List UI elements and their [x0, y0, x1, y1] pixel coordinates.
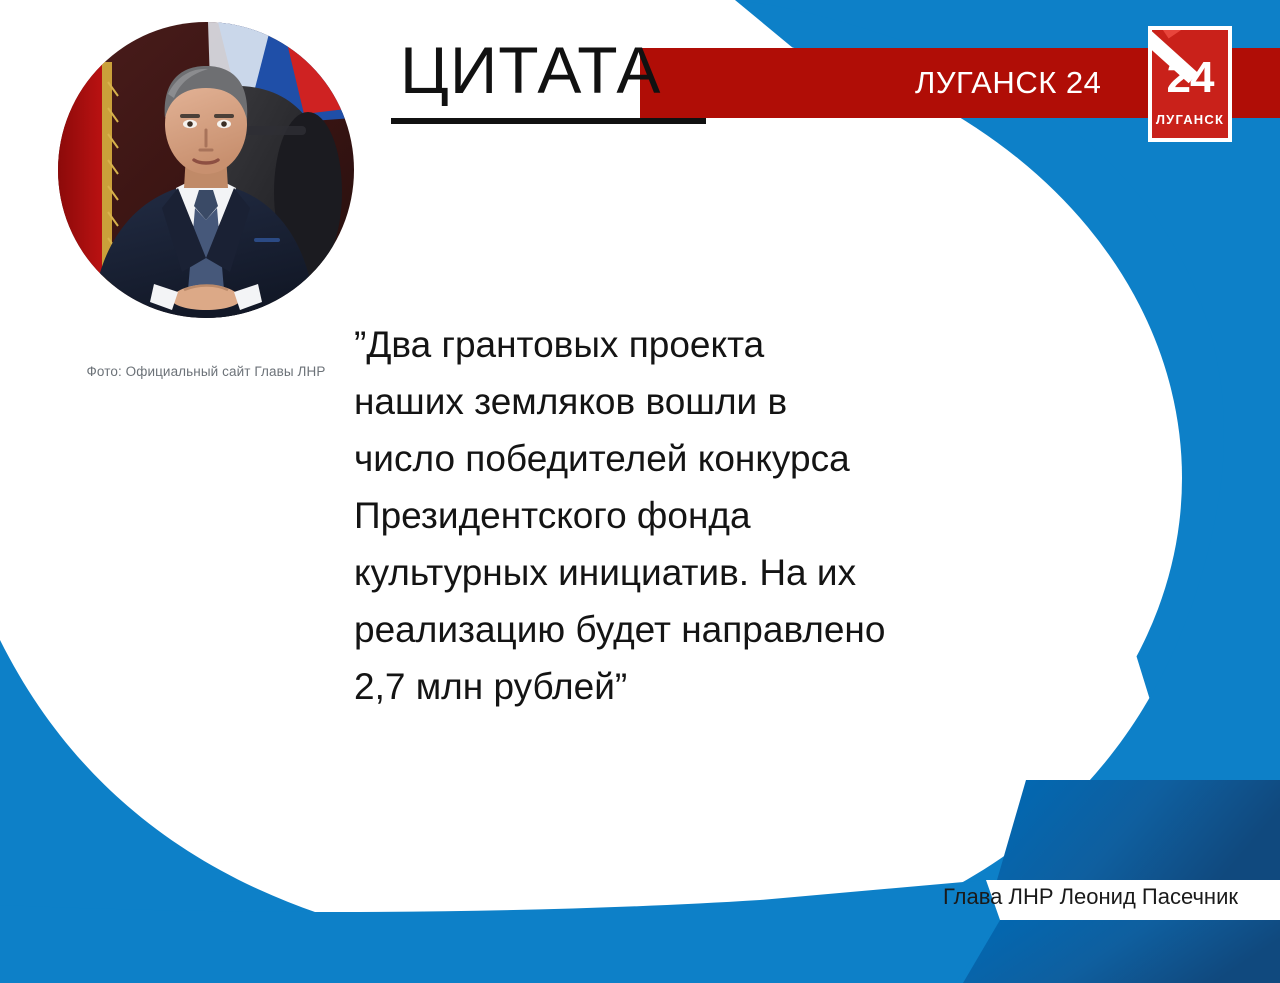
badge-number: 24 — [1152, 56, 1228, 100]
title-block: ЦИТАТА — [400, 34, 661, 106]
quote-line: культурных инициатив. На их — [354, 544, 1004, 601]
quote-line: Президентского фонда — [354, 487, 1004, 544]
badge-inner: 24 ЛУГАНСК — [1152, 30, 1228, 138]
quote-attribution: Глава ЛНР Леонид Пасечник — [900, 884, 1260, 910]
title-underline-rule — [391, 118, 706, 124]
quote-card: ЛУГАНСК 24 24 ЛУГАНСК ЦИТАТА — [0, 0, 1280, 983]
dark-blue-upper-slab — [997, 780, 1280, 880]
quote-line: число победителей конкурса — [354, 430, 1004, 487]
quote-text-block: ”Два грантовых проекта наших земляков во… — [354, 316, 1004, 715]
channel-logo-badge[interactable]: 24 ЛУГАНСК — [1148, 26, 1232, 142]
brand-band-label: ЛУГАНСК 24 — [915, 60, 1135, 106]
page-title: ЦИТАТА — [400, 34, 661, 106]
quote-line: 2,7 млн рублей” — [354, 658, 1004, 715]
badge-city-label: ЛУГАНСК — [1152, 113, 1228, 126]
quote-line: ”Два грантовых проекта — [354, 316, 1004, 373]
portrait-illustration — [58, 22, 354, 318]
photo-credit-caption: Фото: Официальный сайт Главы ЛНР — [56, 364, 356, 379]
quote-line: реализацию будет направлено — [354, 601, 1004, 658]
quote-line: наших земляков вошли в — [354, 373, 1004, 430]
speaker-portrait-photo — [58, 22, 354, 318]
